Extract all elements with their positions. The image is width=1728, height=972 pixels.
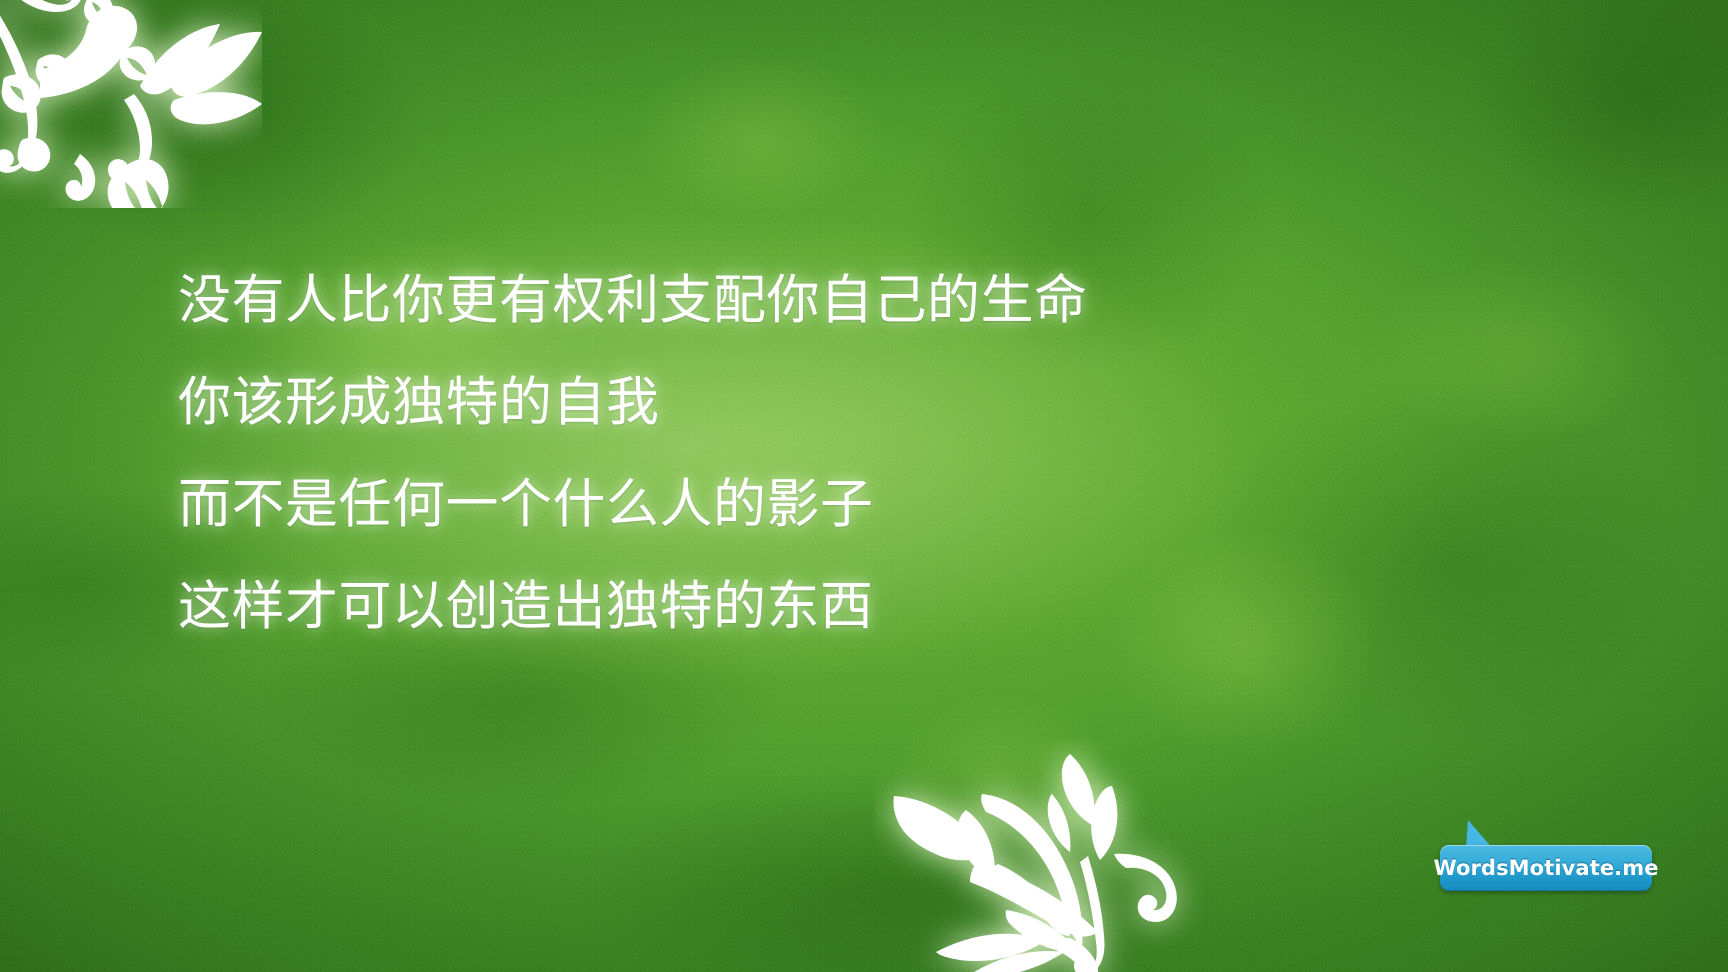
motivational-quote-poster: 没有人比你更有权利支配你自己的生命 你该形成独特的自我 而不是任何一个什么人的影…: [0, 0, 1728, 972]
quote-block: 没有人比你更有权利支配你自己的生命 你该形成独特的自我 而不是任何一个什么人的影…: [178, 250, 1298, 658]
wordsmotivate-badge[interactable]: WordsMotivate.me: [1440, 845, 1652, 891]
quote-line-4: 这样才可以创造出独特的东西: [178, 556, 1298, 658]
quote-line-2: 你该形成独特的自我: [178, 352, 1298, 454]
quote-line-3: 而不是任何一个什么人的影子: [178, 454, 1298, 556]
badge-label: WordsMotivate.me: [1433, 856, 1658, 880]
quote-line-1: 没有人比你更有权利支配你自己的生命: [178, 250, 1298, 352]
